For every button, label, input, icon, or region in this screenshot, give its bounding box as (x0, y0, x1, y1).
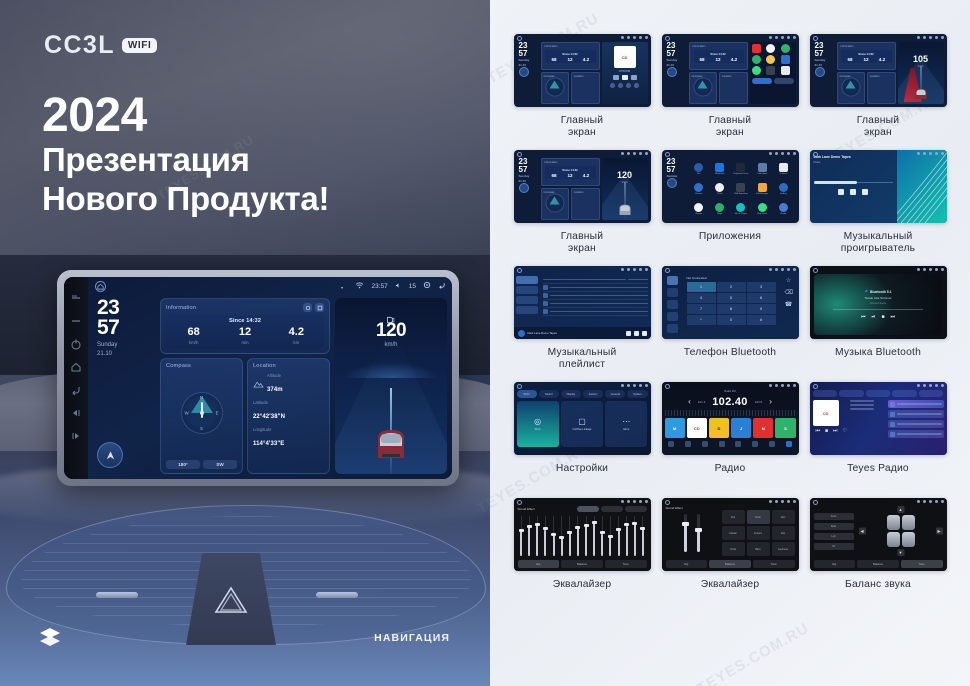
home-circle-icon (813, 152, 818, 157)
station-tile-radio-fm[interactable]: M (665, 418, 685, 438)
equalizer-tabs[interactable]: EQ Balance Tone (666, 560, 795, 568)
slider-knob[interactable] (567, 531, 572, 534)
dialpad-key-9[interactable]: 9 (747, 304, 776, 314)
prev-icon (613, 75, 619, 80)
slider-knob[interactable] (543, 527, 548, 530)
grid-cell[interactable]: Not Connected 1 2 3 4 5 6 7 8 9 (660, 266, 800, 381)
dialer-actions[interactable]: ☆ ⌫ ☎ (779, 274, 799, 339)
slider-knob[interactable] (600, 531, 605, 534)
slider-fill (609, 537, 611, 556)
slider-track[interactable] (697, 514, 700, 552)
screen-thumbnail-bluetooth-music[interactable]: ☂ Bluetooth 5.1 Toosie Like Summer Conne… (810, 266, 947, 339)
screen-thumbnail-home-music[interactable]: 23 57 Sunday 21.10 Information Since 14:… (514, 34, 651, 107)
seek-back-icon[interactable] (70, 406, 82, 418)
clock-widget[interactable]: 23 57 Sunday 21.10 (93, 298, 155, 474)
slider-fill (585, 526, 587, 556)
equalizer-band[interactable] (615, 516, 622, 556)
speaker-front-right[interactable] (902, 515, 915, 530)
tab-eq[interactable]: EQ (666, 560, 708, 568)
screen-thumbnail-home-drive-red[interactable]: 23 57 Sunday 21.10 Information Since 14:… (810, 34, 947, 107)
tab-balance[interactable]: Balance (709, 560, 751, 568)
preset-front[interactable]: Front (814, 513, 854, 520)
eq-icon[interactable] (719, 441, 725, 447)
next-station-icon[interactable]: › (769, 398, 772, 406)
slider-knob[interactable] (535, 523, 540, 526)
loc-icon[interactable] (769, 441, 775, 447)
grid-cell[interactable]: 23 57 Sunday File Bluetooth Keyboard Voi… (660, 150, 800, 265)
track-name (550, 295, 648, 297)
list-item[interactable] (888, 410, 944, 418)
apps-icon[interactable] (786, 441, 792, 447)
volume-icon (929, 500, 932, 503)
grid-cell[interactable]: CD ⏮ ■ ⏭ ♡ (808, 382, 948, 497)
compass-dial (545, 78, 564, 97)
search-icon[interactable] (685, 441, 691, 447)
widgets-column: Information (160, 298, 330, 474)
grid-cell[interactable]: Radio FM ‹ 101.3 102.40 103.5 › M CD (660, 382, 800, 497)
bt-card: ☂ Bluetooth 5.1 Toosie Like Summer Conne… (814, 274, 943, 335)
screen-thumbnail-radio[interactable]: Radio FM ‹ 101.3 102.40 103.5 › M CD (662, 382, 799, 455)
screen-thumbnail-sound-balance[interactable]: Front Rear Left All (810, 498, 947, 571)
grid-cell[interactable]: Front Rear Left All (808, 498, 948, 613)
slider-knob[interactable] (559, 536, 564, 539)
volume-icon (781, 500, 784, 503)
equalizer-band[interactable] (566, 516, 573, 556)
equalizer-presets[interactable] (577, 506, 647, 512)
slider-fill (553, 535, 555, 556)
album-art (518, 330, 525, 337)
station-list[interactable] (888, 400, 944, 438)
equalizer-bands[interactable] (518, 516, 647, 556)
tab-eq[interactable]: EQ (518, 560, 560, 568)
information-title: Information (545, 161, 596, 164)
tab-factory[interactable]: Factory (583, 390, 603, 398)
clock-hours: 23 (93, 298, 155, 318)
preset-pop[interactable]: Pop (722, 510, 745, 524)
volume-icon (781, 268, 784, 271)
latitude-value: 22°42'38"N (253, 414, 285, 420)
equalizer-band[interactable] (639, 516, 646, 556)
home-circle-icon (517, 384, 522, 389)
tab-charts[interactable] (839, 390, 864, 397)
grid-cell[interactable]: ☂ Bluetooth 5.1 Toosie Like Summer Conne… (808, 266, 948, 381)
equalizer-band[interactable] (526, 516, 533, 556)
speaker-front-left[interactable] (887, 515, 900, 530)
app-icon-maps (715, 203, 724, 212)
slider-knob[interactable] (640, 527, 645, 530)
playback-time: 07:50 PM (604, 70, 646, 73)
dialpad-key-7[interactable]: 7 (687, 304, 716, 314)
slider-fill (544, 530, 546, 556)
slider-fill (697, 531, 700, 552)
trip-stat-value: 68 (546, 173, 562, 178)
next-icon[interactable] (862, 189, 868, 195)
preset-flat[interactable]: Flat (772, 526, 795, 540)
equalizer-band[interactable] (518, 516, 525, 556)
prev-station-icon[interactable]: ‹ (688, 398, 691, 406)
grid-cell[interactable]: 23 57 Sunday 21.10 Information Since 14:… (660, 34, 800, 149)
screen-thumbnail-settings[interactable]: Wi-Fi Sound Display Factory General Syst… (514, 382, 651, 455)
list-icon (634, 83, 639, 88)
app-dock-button (752, 78, 772, 84)
clock-date: 21.10 (519, 64, 539, 67)
navigation-arrow-icon (815, 67, 825, 77)
gear-icon (935, 152, 938, 155)
station-name (897, 403, 942, 405)
app-tile: FileManager (752, 179, 772, 198)
tuning-scale[interactable] (665, 410, 796, 416)
expand-icon[interactable] (315, 303, 324, 312)
wifi-icon (917, 384, 920, 387)
dialpad-key-8[interactable]: 8 (717, 304, 746, 314)
sidebar-item-tracks[interactable] (516, 276, 538, 284)
screen-thumbnail-apps[interactable]: 23 57 Sunday File Bluetooth Keyboard Voi… (662, 150, 799, 223)
tab-wifi[interactable]: Wi-Fi (517, 390, 537, 398)
track-icon (543, 293, 548, 298)
speaker-rear-left[interactable] (887, 532, 900, 547)
clock-icon (775, 384, 778, 387)
latitude-label: Latitude (253, 400, 324, 405)
prev-icon[interactable]: ⏮ (861, 315, 866, 320)
navigation-arrow-icon[interactable] (97, 442, 123, 468)
tab-stations[interactable] (892, 390, 917, 397)
grid-cell[interactable]: Sound Effect (660, 498, 800, 613)
station-tile-jazz[interactable]: J (731, 418, 751, 438)
grid-cell[interactable]: Sound Effect EQ Balance Tone (512, 498, 652, 613)
dialpad-key-4[interactable]: 4 (687, 293, 716, 303)
dialpad[interactable]: Not Connected 1 2 3 4 5 6 7 8 9 (684, 274, 779, 339)
trip-stat-value: 12 (710, 57, 726, 62)
right-icon[interactable]: ▶ (936, 528, 943, 535)
balance-pad[interactable]: ▲ ▼ ◀ ▶ (859, 506, 943, 556)
meta-line (850, 404, 874, 406)
back-arrow-icon (941, 500, 944, 503)
tab-balance[interactable]: Balance (857, 560, 899, 568)
dialpad-key-2[interactable]: 2 (717, 282, 746, 292)
dialpad-key-star[interactable]: * (687, 315, 716, 325)
tone-sliders[interactable] (666, 510, 718, 556)
preset-custom[interactable]: Custom (747, 526, 770, 540)
radio-toolbar[interactable] (665, 441, 796, 447)
grid-cell[interactable]: 23 57 Sunday 21.10 Information Since 14:… (512, 34, 652, 149)
list-item[interactable] (888, 420, 944, 428)
lower-widgets-row: Compass N E S (160, 358, 330, 475)
tab-eq[interactable]: EQ (814, 560, 856, 568)
clock-day: Sunday (815, 59, 835, 62)
screen-thumbnail-equalizer[interactable]: Sound Effect EQ Balance Tone (514, 498, 651, 571)
pause-icon[interactable] (850, 189, 856, 195)
station-tile-pop[interactable]: CD (687, 418, 707, 438)
backspace-icon[interactable]: ⌫ (785, 289, 793, 297)
slider-knob[interactable] (584, 524, 589, 527)
teyes-radio-tabs[interactable] (813, 390, 944, 397)
album-art: CD (813, 400, 839, 426)
seat-layout (887, 515, 915, 547)
trip-since-label: Since 14:32 (168, 318, 322, 324)
slider-track[interactable] (684, 514, 687, 552)
preset-grid[interactable]: Pop Rock Jazz Classic Custom Flat Vocal … (722, 510, 795, 556)
equalizer-band[interactable] (542, 516, 549, 556)
equalizer-band[interactable] (558, 516, 565, 556)
preset-jazz[interactable]: Jazz (772, 510, 795, 524)
gear-icon (935, 500, 938, 503)
information-actions[interactable] (303, 303, 324, 312)
speaker-rear-right[interactable] (902, 532, 915, 547)
next-icon[interactable] (642, 331, 647, 336)
lower-widgets-row: Compass Location (541, 188, 600, 221)
play-pause-icon[interactable]: ⏯ (871, 315, 875, 320)
back-icon[interactable] (70, 383, 82, 395)
playback-controls[interactable] (814, 189, 893, 195)
next-icon (631, 75, 637, 80)
station-tile-sport[interactable]: S (775, 418, 795, 438)
information-widget[interactable]: Information (160, 298, 330, 354)
player-info: Dark Lane Demo Tapes Drake (810, 150, 897, 223)
trip-stats: 68 km/h 12 min 4.2 (168, 327, 322, 345)
dialpad-key-1[interactable]: 1 (687, 282, 716, 292)
back-arrow-icon[interactable] (438, 281, 446, 291)
wifi-icon (917, 500, 920, 503)
volume-icon (633, 384, 636, 387)
volume-icon (395, 282, 402, 291)
list-icon[interactable] (702, 441, 708, 447)
next-icon[interactable]: ⏭ (833, 429, 838, 434)
screen-thumbnail-music-player[interactable]: Dark Lane Demo Tapes Drake (810, 150, 947, 223)
compass-label-s: S (200, 426, 203, 431)
dialer-sidebar[interactable] (662, 274, 684, 339)
home-icon[interactable] (70, 360, 82, 372)
screen-thumbnail-home-drive[interactable]: 23 57 Sunday 21.10 Information Since 14:… (514, 150, 651, 223)
clock-widget: 23 57 Sunday 21.10 (517, 158, 539, 220)
prev-icon[interactable] (838, 189, 844, 195)
list-item[interactable] (888, 400, 944, 408)
tab-balance[interactable]: Balance (561, 560, 603, 568)
preset-rear[interactable]: Rear (814, 523, 854, 530)
preset-classic[interactable]: Classic (722, 526, 745, 540)
equalizer-band[interactable] (607, 516, 614, 556)
preset-bass[interactable]: Bass (747, 542, 770, 556)
tune-icon[interactable] (752, 441, 758, 447)
navigation-arrow-icon (667, 67, 677, 77)
longitude-row: Longitude 114°4'33"E (253, 427, 324, 450)
slider-knob[interactable] (682, 522, 689, 526)
car-3d-model (615, 198, 634, 216)
slider-knob[interactable] (575, 526, 580, 529)
dialpad-key-6[interactable]: 6 (747, 293, 776, 303)
volume-down-icon[interactable] (70, 314, 82, 326)
preset-all[interactable]: All (814, 543, 854, 550)
tab-general[interactable]: General (605, 390, 625, 398)
favorite-icon[interactable]: ♡ (843, 429, 847, 434)
slider-knob[interactable] (616, 528, 621, 531)
power-icon[interactable] (70, 337, 82, 349)
table-row[interactable] (543, 292, 648, 300)
preset-left[interactable]: Left (814, 533, 854, 540)
wifi-icon (917, 152, 920, 155)
song-artist: Drake (814, 161, 893, 164)
prev-icon[interactable] (626, 331, 631, 336)
sidebar-item-contacts[interactable] (667, 288, 678, 297)
down-icon[interactable]: ▼ (897, 549, 904, 556)
tab-tone[interactable]: Tone (753, 560, 795, 568)
column-header-time (628, 279, 648, 281)
status-bar (917, 500, 944, 503)
trip-stat-value: 4.2 (271, 327, 322, 338)
screen-thumbnail-playlist[interactable]: Dark Lane Demo Tapes (514, 266, 651, 339)
prev-icon[interactable]: ⏮ (816, 429, 821, 434)
settings-cards[interactable]: ◎ Wi-Fi ▢ CarPlay Linkage ⋯ More (517, 401, 648, 447)
device-side-buttons[interactable] (64, 277, 88, 479)
preset-vocal[interactable]: Vocal (722, 542, 745, 556)
clock-icon (627, 384, 630, 387)
volume-up-icon[interactable] (70, 291, 82, 303)
grid-cell[interactable]: 23 57 Sunday 21.10 Information Since 14:… (512, 150, 652, 265)
wifi-icon (621, 268, 624, 271)
screen-thumbnail-equalizer-tone[interactable]: Sound Effect (662, 498, 799, 571)
grid-cell[interactable]: 23 57 Sunday 21.10 Information Since 14:… (808, 34, 948, 149)
trip-stat-unit: km (271, 340, 322, 345)
slider-knob[interactable] (608, 535, 613, 538)
up-icon[interactable]: ▲ (897, 506, 904, 513)
preset-rock[interactable]: Rock (747, 510, 770, 524)
screen-thumbnail-teyes-radio[interactable]: CD ⏮ ■ ⏭ ♡ (810, 382, 947, 455)
frequency-row[interactable]: ‹ 101.3 102.40 103.5 › (665, 396, 796, 408)
location-widget[interactable]: Location Altitude 374m (247, 358, 330, 475)
stop-icon[interactable]: ■ (881, 315, 884, 320)
equalizer-tabs[interactable]: EQ Balance Tone (518, 560, 647, 568)
vent-knob (316, 592, 358, 598)
slider-knob[interactable] (632, 522, 637, 525)
tab-genres[interactable] (866, 390, 891, 397)
left-icon[interactable]: ◀ (859, 528, 866, 535)
tab-tone[interactable]: Tone (901, 560, 943, 568)
playback-controls[interactable]: ⏮ ■ ⏭ ♡ (813, 429, 848, 434)
dialpad-key-hash[interactable]: # (747, 315, 776, 325)
equalizer-band[interactable] (534, 516, 541, 556)
equalizer-band[interactable] (599, 516, 606, 556)
settings-card-wifi[interactable]: ◎ Wi-Fi (517, 401, 559, 447)
list-item[interactable] (888, 430, 944, 438)
tab-display[interactable]: Display (561, 390, 581, 398)
equalizer-band[interactable] (550, 516, 557, 556)
slider-knob[interactable] (551, 533, 556, 536)
status-bar (917, 152, 944, 155)
compass-dial (841, 78, 860, 97)
dialpad-keys[interactable]: 1 2 3 4 5 6 7 8 9 * 0 # (687, 282, 776, 325)
preset-stations[interactable]: M CD D J N S (665, 418, 796, 438)
apps-layout: 23 57 Sunday File Bluetooth Keyboard Voi… (662, 150, 799, 223)
stop-icon[interactable]: ■ (825, 429, 828, 434)
driving-view-widget[interactable]: 120 km/h (335, 298, 447, 474)
call-icon[interactable]: ☎ (785, 301, 793, 309)
app-icon-music (752, 55, 761, 64)
refresh-icon[interactable] (303, 303, 312, 312)
wifi-icon (621, 500, 624, 503)
radio-screen: Radio FM ‹ 101.3 102.40 103.5 › M CD (662, 382, 799, 455)
slider-knob[interactable] (624, 523, 629, 526)
playback-controls[interactable]: ⏮ ⏯ ■ ⏭ (861, 315, 895, 320)
widgets-column: Information Since 14:32 68 12 4.2 (541, 42, 600, 104)
progress-bar[interactable] (814, 182, 893, 183)
sidebar-item-settings[interactable] (667, 324, 678, 333)
rds-icon[interactable] (735, 441, 741, 447)
gear-icon[interactable] (423, 281, 431, 291)
preset-loudness[interactable]: Loudness (772, 542, 795, 556)
tab-mylist[interactable] (919, 390, 944, 397)
settings-tabs[interactable]: Wi-Fi Sound Display Factory General Syst… (517, 390, 648, 398)
pause-icon[interactable] (634, 331, 639, 336)
station-icon (890, 402, 895, 407)
settings-card-more[interactable]: ⋯ More (605, 401, 647, 447)
equalizer-band[interactable] (631, 516, 638, 556)
now-playing-bar[interactable]: Dark Lane Demo Tapes (514, 327, 651, 339)
station-tile-dance[interactable]: D (709, 418, 729, 438)
band-icon[interactable] (668, 441, 674, 447)
home-circle-icon[interactable] (95, 281, 106, 292)
grid-cell[interactable]: Dark Lane Demo Tapes Drake (808, 150, 948, 265)
sidebar-item-albums[interactable] (516, 306, 538, 314)
preset-custom[interactable] (577, 506, 599, 512)
preset-rock[interactable] (625, 506, 647, 512)
slider-knob[interactable] (592, 521, 597, 524)
slider-knob[interactable] (519, 529, 524, 532)
next-icon[interactable]: ⏭ (891, 315, 896, 320)
table-row[interactable] (543, 300, 648, 308)
slider-knob[interactable] (527, 525, 532, 528)
table-row[interactable] (543, 308, 648, 316)
grid-cell[interactable]: Wi-Fi Sound Display Factory General Syst… (512, 382, 652, 497)
preset-pop[interactable] (601, 506, 623, 512)
equalizer-band[interactable] (623, 516, 630, 556)
app-tile: Radio (773, 200, 793, 219)
balance-presets[interactable]: Front Rear Left All (814, 506, 854, 556)
home-layout: 23 57 Sunday 21.10 Information Since 14:… (662, 34, 799, 107)
dialpad-key-0[interactable]: 0 (717, 315, 746, 325)
grid-cell[interactable]: Dark Lane Demo Tapes (512, 266, 652, 381)
sidebar-item-dialpad[interactable] (667, 276, 678, 285)
back-arrow-icon (941, 384, 944, 387)
screen-thumbnail-bluetooth-phone[interactable]: Not Connected 1 2 3 4 5 6 7 8 9 (662, 266, 799, 339)
head-unit-screen[interactable]: 23:57 15 23 (88, 277, 452, 479)
gear-icon (787, 384, 790, 387)
star-icon[interactable]: ☆ (785, 277, 793, 285)
equalizer-band[interactable] (583, 516, 590, 556)
station-icon (890, 432, 895, 437)
seek-forward-icon[interactable] (70, 429, 82, 441)
tab-tone[interactable]: Tone (605, 560, 647, 568)
progress-bar[interactable] (833, 309, 923, 310)
station-tile-news[interactable]: N (753, 418, 773, 438)
settings-card-carplay[interactable]: ▢ CarPlay Linkage (561, 401, 603, 447)
sidebar-item-history[interactable] (667, 312, 678, 321)
tab-live[interactable] (813, 390, 838, 397)
dialpad-key-3[interactable]: 3 (747, 282, 776, 292)
sidebar-item-all[interactable] (516, 286, 538, 294)
slider-knob[interactable] (695, 528, 702, 532)
compass-widget[interactable]: Compass N E S (160, 358, 243, 475)
table-row[interactable] (543, 284, 648, 292)
trip-stat: 4.2 km (271, 327, 322, 345)
tab-sound[interactable]: Sound (539, 390, 559, 398)
equalizer-band[interactable] (591, 516, 598, 556)
dialpad-key-5[interactable]: 5 (717, 293, 746, 303)
equalizer-band[interactable] (574, 516, 581, 556)
search-icon[interactable] (667, 300, 678, 309)
tab-system[interactable]: System (627, 390, 647, 398)
equalizer-tabs[interactable]: EQ Balance Tone (814, 560, 943, 568)
screen-thumbnail-home-apps[interactable]: 23 57 Sunday 21.10 Information Since 14:… (662, 34, 799, 107)
sidebar-item-favorite[interactable] (516, 296, 538, 304)
